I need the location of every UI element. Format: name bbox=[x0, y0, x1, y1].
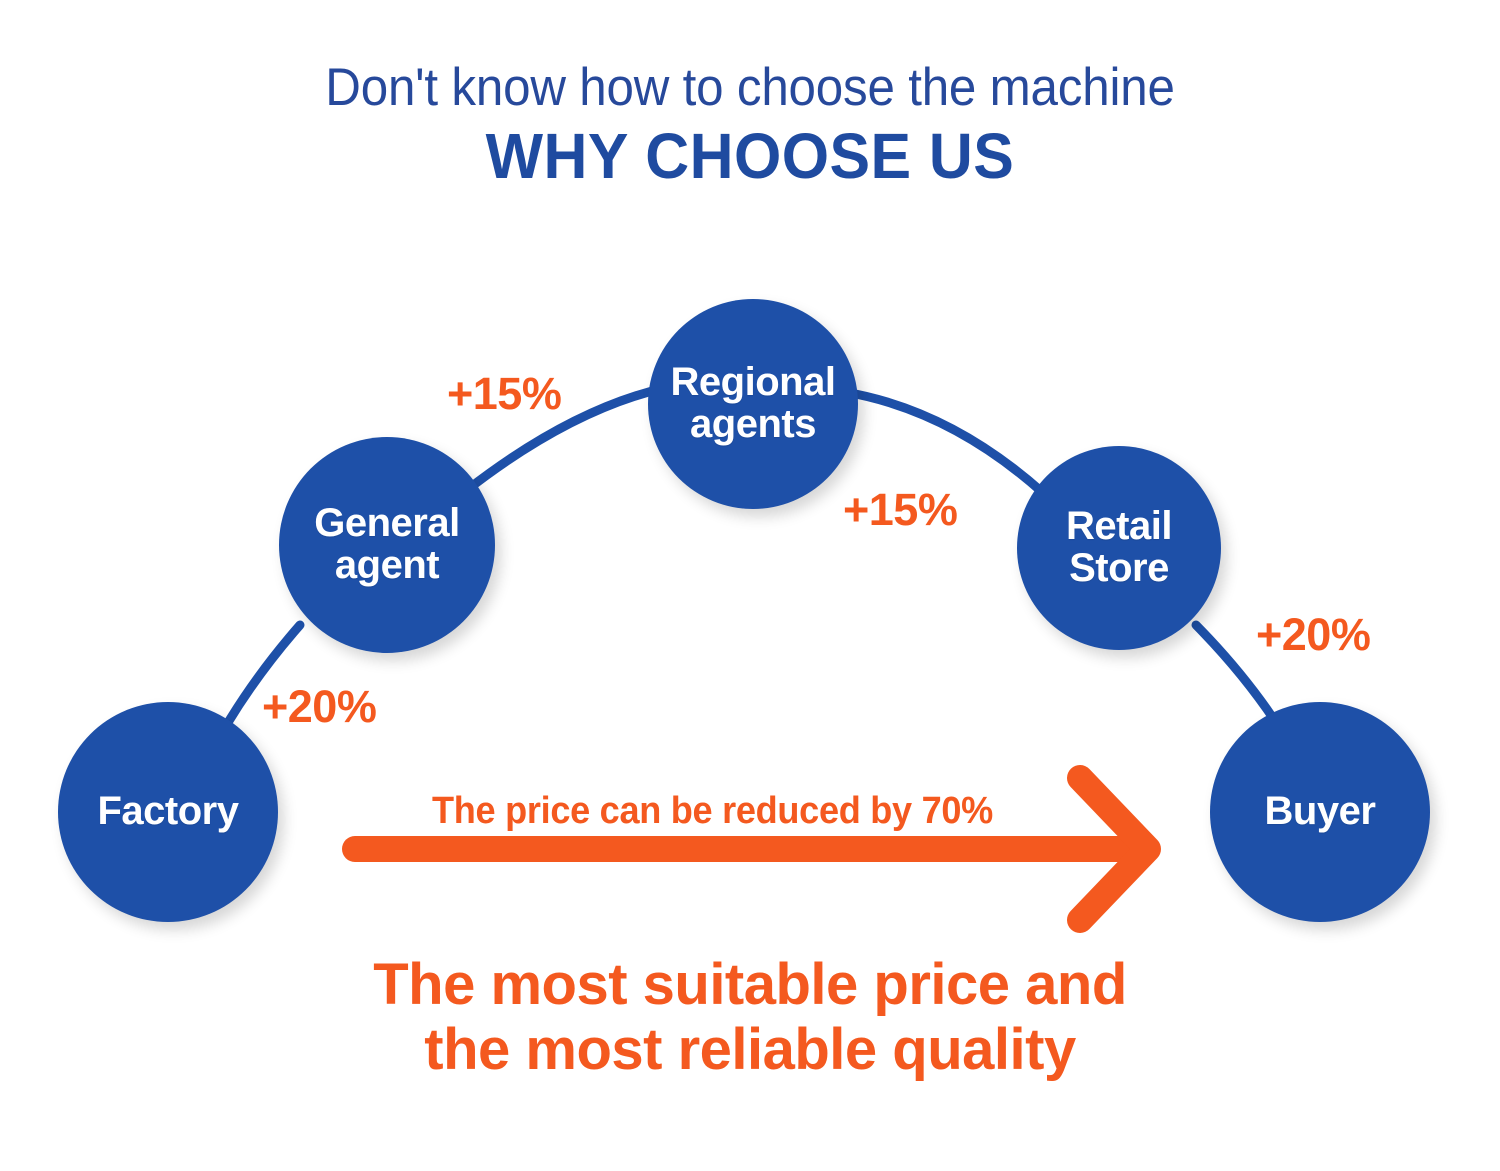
tagline-line-2: the most reliable quality bbox=[0, 1018, 1500, 1083]
markup-regional-retail: +15% bbox=[843, 487, 957, 532]
node-buyer-label: Buyer bbox=[1265, 791, 1376, 833]
markup-general-regional: +15% bbox=[447, 371, 561, 416]
tagline: The most suitable price and the most rel… bbox=[0, 953, 1500, 1083]
node-factory[interactable]: Factory bbox=[58, 702, 278, 922]
node-regional-agents[interactable]: Regional agents bbox=[648, 299, 858, 509]
node-retail-store-label: Retail Store bbox=[1066, 506, 1172, 589]
markup-retail-buyer: +20% bbox=[1256, 612, 1370, 657]
node-retail-store[interactable]: Retail Store bbox=[1017, 446, 1221, 650]
node-factory-label: Factory bbox=[98, 791, 239, 833]
markup-factory-general: +20% bbox=[262, 684, 376, 729]
node-general-agent-label: General agent bbox=[314, 503, 459, 586]
arrow-caption: The price can be reduced by 70% bbox=[380, 791, 1045, 833]
infographic-canvas: Don't know how to choose the machine WHY… bbox=[0, 0, 1500, 1171]
connector-regional-retail bbox=[845, 392, 1042, 492]
tagline-line-1: The most suitable price and bbox=[0, 953, 1500, 1018]
node-buyer[interactable]: Buyer bbox=[1210, 702, 1430, 922]
node-general-agent[interactable]: General agent bbox=[279, 437, 495, 653]
node-regional-agents-label: Regional agents bbox=[671, 362, 836, 445]
